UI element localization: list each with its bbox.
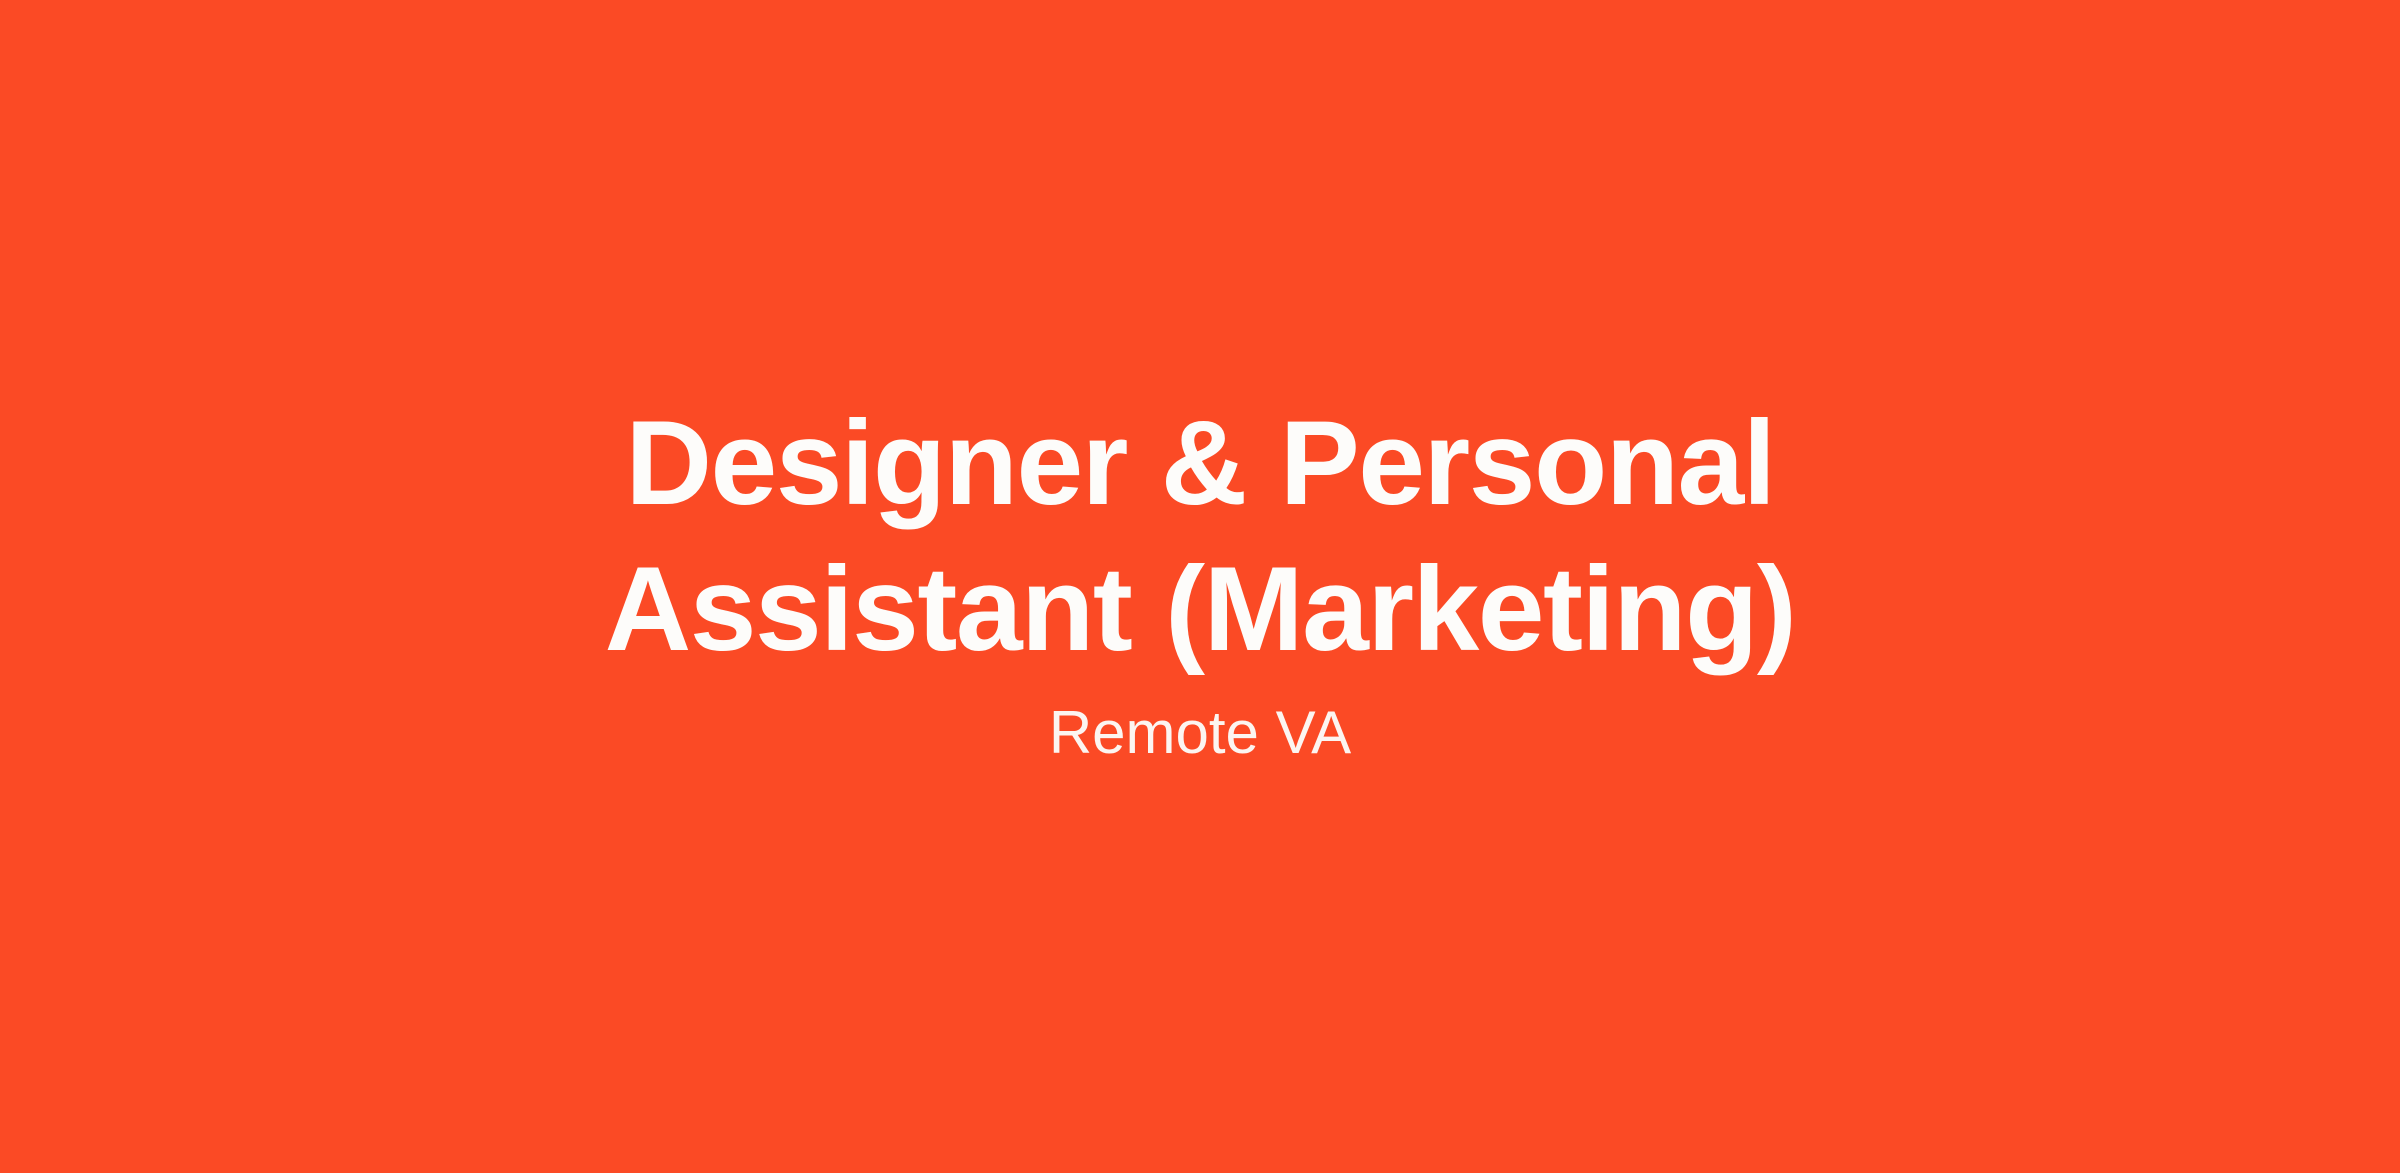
job-title-card: Designer & Personal Assistant (Marketing… — [0, 0, 2400, 1173]
page-title: Designer & Personal Assistant (Marketing… — [550, 390, 1850, 683]
job-subtitle: Remote VA — [1049, 683, 1351, 769]
card-content: Designer & Personal Assistant (Marketing… — [0, 390, 2400, 769]
